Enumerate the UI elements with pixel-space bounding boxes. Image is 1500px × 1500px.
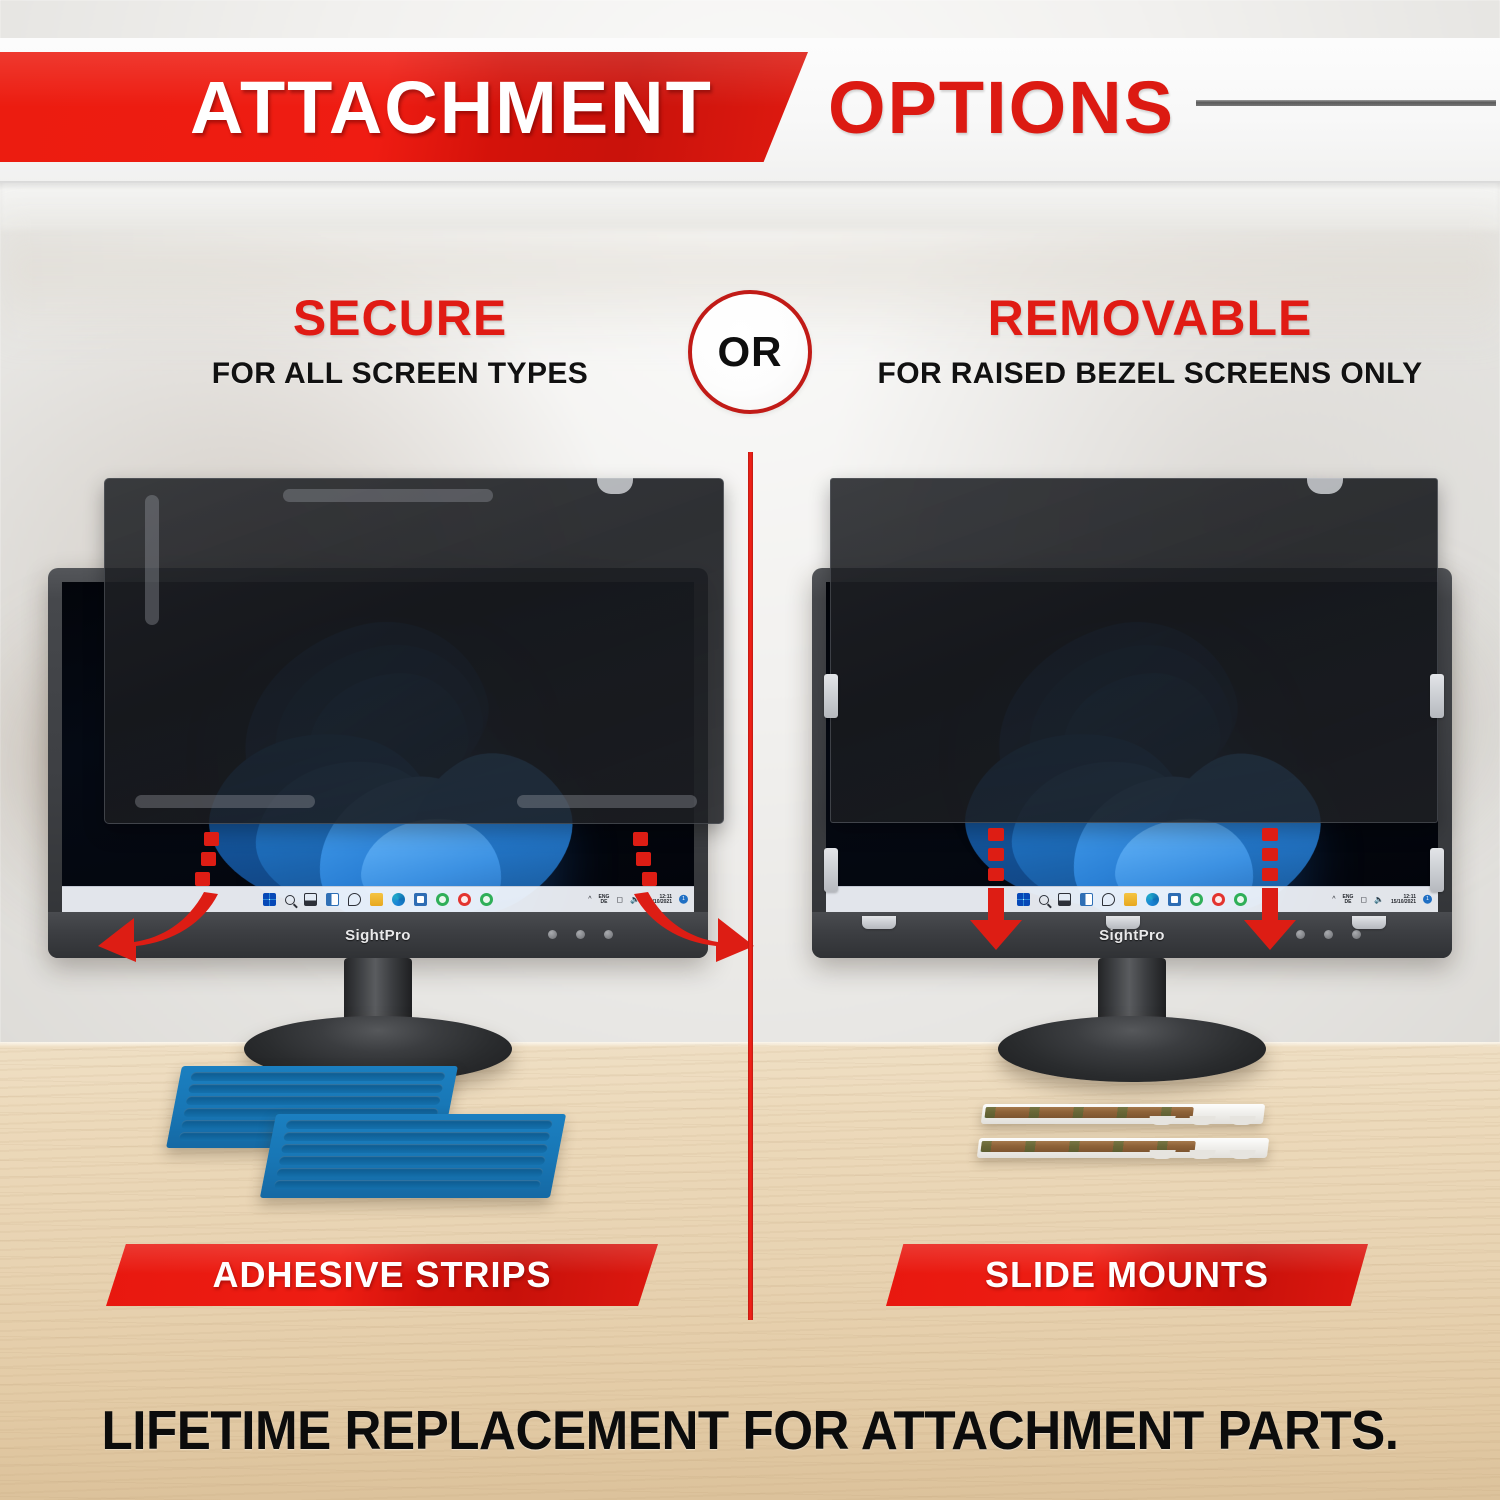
removable-heading: REMOVABLE [810,292,1490,345]
slide-mount-clip-right-lower[interactable] [1430,848,1444,892]
slide-mount-tooth [1149,1150,1176,1159]
monitor-brand-label-right: SightPro [1099,927,1165,944]
slide-mount-clip-bottom-1[interactable] [862,916,896,929]
adhesive-strip [280,1144,549,1153]
or-divider-badge: OR [688,290,812,414]
system-tray-right[interactable]: ^ ENG DE ◻ 🔈 12:11 15/10/2021 1 [1332,894,1432,905]
task-view-icon[interactable] [304,893,317,906]
volume-icon[interactable]: 🔈 [1374,895,1384,903]
infographic-page: ATTACHMENT OPTIONS SECURE FOR ALL SCREEN… [0,0,1500,1500]
task-view-icon[interactable] [1058,893,1071,906]
filter-bottom-notch-left [135,795,315,808]
slide-mount-tooth [1189,1150,1216,1159]
slide-mount-clip-right-upper[interactable] [1430,674,1444,718]
app-green-icon[interactable] [1190,893,1203,906]
tray-language[interactable]: ENG DE [1343,894,1354,905]
taskbar-icon-group[interactable] [263,893,493,906]
notification-badge[interactable]: 1 [1423,895,1432,904]
adhesive-strip [276,1168,545,1177]
monitor-button-2[interactable] [1324,930,1333,939]
adhesive-strip [185,1096,441,1105]
page-title-secondary: OPTIONS [828,57,1175,157]
attach-arrow-right-1 [962,828,1032,950]
filter-side-notch-left [145,495,159,625]
monitor-brand-label-left: SightPro [345,927,411,944]
microsoft-store-icon[interactable] [1168,893,1181,906]
filter-camera-cutout-right [1307,478,1343,494]
slide-mount-tooth [1229,1116,1256,1125]
network-icon[interactable]: ◻ [1360,895,1367,903]
accessory-label-adhesive-strips: ADHESIVE STRIPS [106,1244,658,1306]
chat-icon[interactable] [1102,893,1115,906]
or-badge-label: OR [718,328,783,376]
slide-mount-clip-bottom-2[interactable] [1106,916,1140,929]
vertical-divider [748,452,753,1320]
header-rule [1196,100,1496,106]
monitor-right-base [998,1016,1266,1082]
widgets-icon[interactable] [1080,893,1093,906]
privacy-filter-panel-left[interactable] [104,478,724,824]
monitor-button-1[interactable] [548,930,557,939]
slide-mount-clip-left-lower[interactable] [824,848,838,892]
slide-mount-tooth [1189,1116,1216,1125]
filter-top-notch [283,489,493,502]
adhesive-strip [283,1132,552,1141]
search-icon[interactable] [285,895,295,905]
file-explorer-icon[interactable] [370,893,383,906]
adhesive-strip [273,1180,542,1189]
tray-chevron-icon[interactable]: ^ [1332,896,1335,903]
tray-clock[interactable]: 12:11 15/10/2021 [1391,894,1416,905]
microsoft-store-icon[interactable] [414,893,427,906]
attach-arrow-left-1 [96,826,256,962]
privacy-filter-panel-right[interactable] [830,478,1438,823]
secure-heading: SECURE [100,292,700,345]
section-heading-secure: SECURE FOR ALL SCREEN TYPES [100,292,700,391]
slide-mount-strip-2[interactable] [977,1138,1269,1158]
attach-arrow-left-2 [596,826,756,962]
slide-mount-tooth [1149,1116,1176,1125]
adhesive-strip [188,1084,444,1093]
section-heading-removable: REMOVABLE FOR RAISED BEZEL SCREENS ONLY [810,292,1490,391]
adhesive-strip [278,1156,547,1165]
widgets-icon[interactable] [326,893,339,906]
slide-mount-tooth [1229,1150,1256,1159]
windows-start-icon[interactable] [263,893,276,906]
adhesive-strip-sheet-2[interactable] [260,1114,566,1198]
edge-browser-icon[interactable] [1146,893,1159,906]
removable-subheading: FOR RAISED BEZEL SCREENS ONLY [810,357,1490,391]
search-icon[interactable] [1039,895,1049,905]
adhesive-strips-label: ADHESIVE STRIPS [212,1254,551,1296]
taskbar-right[interactable]: ^ ENG DE ◻ 🔈 12:11 15/10/2021 1 [826,886,1438,912]
tray-chevron-icon[interactable]: ^ [588,896,591,903]
adhesive-strip [190,1072,446,1081]
slide-mount-strip-1[interactable] [981,1104,1265,1124]
slide-mounts-label: SLIDE MOUNTS [985,1254,1269,1296]
accessory-label-slide-mounts: SLIDE MOUNTS [886,1244,1368,1306]
header-plate-shadow [0,181,1500,190]
secure-subheading: FOR ALL SCREEN TYPES [100,357,700,391]
footer-tagline: LIFETIME REPLACEMENT FOR ATTACHMENT PART… [53,1398,1448,1462]
filter-camera-cutout [597,478,633,494]
app-red-icon[interactable] [458,893,471,906]
attach-arrow-right-2 [1236,828,1306,950]
app-green-icon[interactable] [436,893,449,906]
file-explorer-icon[interactable] [1124,893,1137,906]
slide-mount-clip-bottom-3[interactable] [1352,916,1386,929]
adhesive-strip [285,1120,554,1129]
monitor-button-2[interactable] [576,930,585,939]
filter-bottom-notch-right [517,795,697,808]
slide-mount-clip-left-upper[interactable] [824,674,838,718]
app-red-icon[interactable] [1212,893,1225,906]
edge-browser-icon[interactable] [392,893,405,906]
app-green-2-icon[interactable] [480,893,493,906]
page-title-primary: ATTACHMENT [190,57,770,157]
monitor-button-3[interactable] [1352,930,1361,939]
chat-icon[interactable] [348,893,361,906]
taskbar-icon-group-right[interactable] [1017,893,1247,906]
